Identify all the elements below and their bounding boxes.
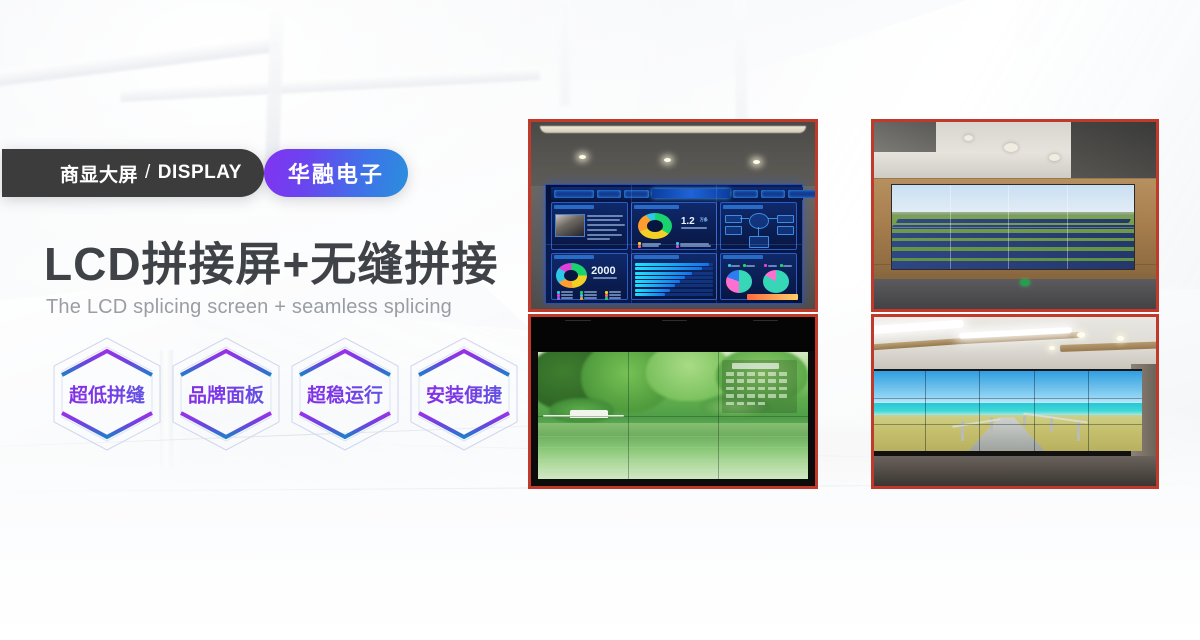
- ceiling-downlight: [579, 155, 586, 159]
- feature-label: 安装便捷: [405, 381, 523, 408]
- bar-value: [635, 289, 669, 292]
- dashboard-footer-ticker: [747, 294, 798, 300]
- page-subtitle: The LCD splicing screen + seamless splic…: [46, 296, 452, 319]
- screen-solar-field: [892, 216, 1135, 269]
- flow-node: [725, 215, 742, 224]
- background-ceiling-beam: [560, 0, 570, 106]
- video-wall-screen: [891, 184, 1136, 270]
- dashboard-panel-pies: [720, 253, 797, 300]
- feature-list: 超低拼缝 品牌面板 超稳运行: [48, 334, 523, 454]
- ceiling-corner-soffit: [874, 122, 936, 152]
- topbar-timestamp: [554, 190, 593, 198]
- legend-label: [609, 291, 621, 293]
- product-photo-garden-wall: [528, 314, 818, 489]
- legend-dot: [676, 245, 679, 248]
- topbar-menu-chip: [761, 190, 786, 198]
- ceiling-downlight: [1049, 154, 1060, 161]
- bar-value: [635, 293, 664, 296]
- feature-item-1: 品牌面板: [167, 334, 285, 454]
- floor: [874, 279, 1156, 309]
- lobby-ceiling: [874, 317, 1156, 369]
- flow-node: [725, 226, 742, 235]
- bar-value: [635, 267, 702, 270]
- category-separator: /: [145, 162, 151, 184]
- ceiling-light-bar: [871, 320, 964, 335]
- water-ripple: [538, 447, 808, 448]
- product-photo-beach-wall: [871, 314, 1159, 489]
- bar-value: [635, 263, 709, 266]
- flow-node: [777, 215, 794, 224]
- count-donut-chart: [556, 263, 587, 288]
- dashboard-panel-count: 2000: [551, 253, 628, 300]
- dashboard-panel-grid: 1.2 万条: [551, 202, 796, 300]
- calendar-title: [732, 363, 779, 369]
- wall-top-shroud: [531, 317, 815, 351]
- panel-header: [723, 205, 763, 209]
- bar-value: [635, 272, 692, 275]
- legend-label: [561, 291, 573, 293]
- ceiling-cove: [540, 126, 807, 134]
- panel-header: [634, 255, 679, 259]
- screen-lake: [538, 423, 808, 479]
- video-wall-screen: [871, 369, 1142, 450]
- panel-text-line: [587, 215, 624, 217]
- flow-node: [749, 236, 769, 248]
- wall-seam: [871, 424, 1142, 425]
- panel-header: [634, 205, 679, 209]
- screen-sky: [871, 371, 1142, 404]
- screen-pavilion: [570, 410, 608, 419]
- ceiling-downlight: [753, 160, 760, 164]
- wall-seam: [925, 371, 926, 450]
- shroud-branding: [753, 320, 779, 321]
- panel-header: [723, 255, 763, 259]
- room-ceiling: [531, 122, 815, 186]
- solar-panel-row: [891, 251, 1136, 258]
- calendar-overlay: [722, 360, 798, 413]
- photo-content: [531, 317, 815, 486]
- wall-seam: [1088, 371, 1089, 450]
- flow-connector: [768, 218, 777, 219]
- solar-panel-row: [891, 241, 1136, 247]
- screen-sky: [892, 185, 1135, 214]
- video-wall-screen: [538, 352, 808, 479]
- feature-item-2: 超稳运行: [286, 334, 404, 454]
- category-pill: 商显大屏 / DISPLAY: [2, 149, 264, 197]
- panel-thumbnail: [555, 214, 585, 237]
- solar-panel-row: [891, 261, 1136, 269]
- bar-value: [635, 280, 680, 283]
- topbar-menu-chip: [624, 190, 649, 198]
- wall-seam: [1034, 371, 1035, 450]
- dashboard-topbar: [551, 187, 802, 200]
- legend-label: [746, 265, 755, 267]
- solar-panel-row: [891, 233, 1136, 238]
- legend-label: [584, 291, 596, 293]
- count-value: 2000: [591, 266, 615, 277]
- lobby-floor: [874, 456, 1156, 486]
- shroud-branding: [662, 320, 688, 321]
- exit-sign-icon: [1021, 280, 1029, 285]
- panel-header: [554, 205, 594, 209]
- pie-chart-right: [763, 270, 789, 293]
- feature-label: 品牌面板: [167, 381, 285, 408]
- category-label-cn: 商显大屏: [60, 160, 138, 187]
- ceiling-downlight: [1077, 332, 1085, 338]
- topbar-menu-chip: [733, 190, 758, 198]
- feature-label: 超稳运行: [286, 381, 404, 408]
- kpi-caption: [681, 227, 707, 229]
- panel-header: [554, 255, 594, 259]
- water-ripple: [538, 469, 808, 470]
- legend-label: [783, 265, 792, 267]
- product-photo-solar-wall: [871, 119, 1159, 312]
- screen-sea: [871, 403, 1142, 416]
- wall-seam: [871, 398, 1142, 399]
- photo-content: 1.2 万条: [531, 122, 815, 309]
- photo-content: [874, 317, 1156, 486]
- photo-content: [874, 122, 1156, 309]
- legend-label: [584, 297, 596, 299]
- panel-text-line: [587, 234, 622, 236]
- legend-label: [768, 265, 777, 267]
- topbar-status-chip: [788, 190, 817, 198]
- wall-seam: [546, 244, 802, 245]
- ceiling-slat: [1060, 341, 1159, 352]
- flow-connector: [758, 227, 759, 236]
- feature-item-3: 安装便捷: [405, 334, 523, 454]
- legend-dot: [638, 245, 641, 248]
- brand-name: 华融电子: [288, 157, 384, 189]
- feature-item-0: 超低拼缝: [48, 334, 166, 454]
- kpi-unit: 万条: [700, 218, 708, 222]
- wall-seam: [979, 371, 980, 450]
- solar-panel-row: [896, 219, 1131, 223]
- legend-label: [731, 265, 740, 267]
- ceiling-dark-soffit: [1071, 122, 1156, 178]
- shroud-branding: [565, 320, 591, 321]
- legend-dot: [557, 297, 560, 300]
- dashboard-title-chip: [652, 189, 731, 198]
- brand-pill: 华融电子: [264, 149, 408, 197]
- flow-connector: [740, 218, 749, 219]
- panel-text-line: [587, 229, 618, 231]
- feature-label: 超低拼缝: [48, 381, 166, 408]
- water-ripple: [538, 459, 808, 460]
- bar-value: [635, 284, 675, 287]
- product-banner: 商显大屏 / DISPLAY 华融电子 LCD拼接屏+无缝拼接 The LCD …: [0, 0, 1200, 640]
- flow-node: [777, 226, 794, 235]
- boardwalk-post: [1023, 416, 1026, 427]
- legend-label: [609, 297, 621, 299]
- pie-chart-left: [726, 270, 752, 293]
- page-title: LCD拼接屏+无缝拼接: [44, 228, 498, 294]
- bar-value: [635, 276, 685, 279]
- water-ripple: [538, 436, 808, 437]
- category-label-en: DISPLAY: [158, 162, 242, 184]
- ceiling-downlight: [664, 158, 671, 162]
- ceiling-downlight: [1004, 143, 1018, 152]
- topbar-menu-chip: [597, 190, 622, 198]
- panel-text-line: [587, 224, 625, 226]
- video-wall-screen: 1.2 万条: [545, 184, 803, 304]
- kpi-value: 1.2: [681, 217, 695, 227]
- wall-seam: [538, 416, 808, 417]
- dashboard-panel-ranking: [631, 253, 717, 300]
- legend-dot: [605, 297, 608, 300]
- ceiling-downlight: [1117, 336, 1124, 341]
- ceiling-downlight: [1049, 346, 1055, 350]
- brand-badge: 商显大屏 / DISPLAY 华融电子: [48, 149, 408, 197]
- legend-label: [561, 297, 573, 299]
- wall-seam: [892, 227, 1135, 228]
- wood-grain-line: [874, 178, 1156, 179]
- product-photo-dashboard: 1.2 万条: [528, 119, 818, 312]
